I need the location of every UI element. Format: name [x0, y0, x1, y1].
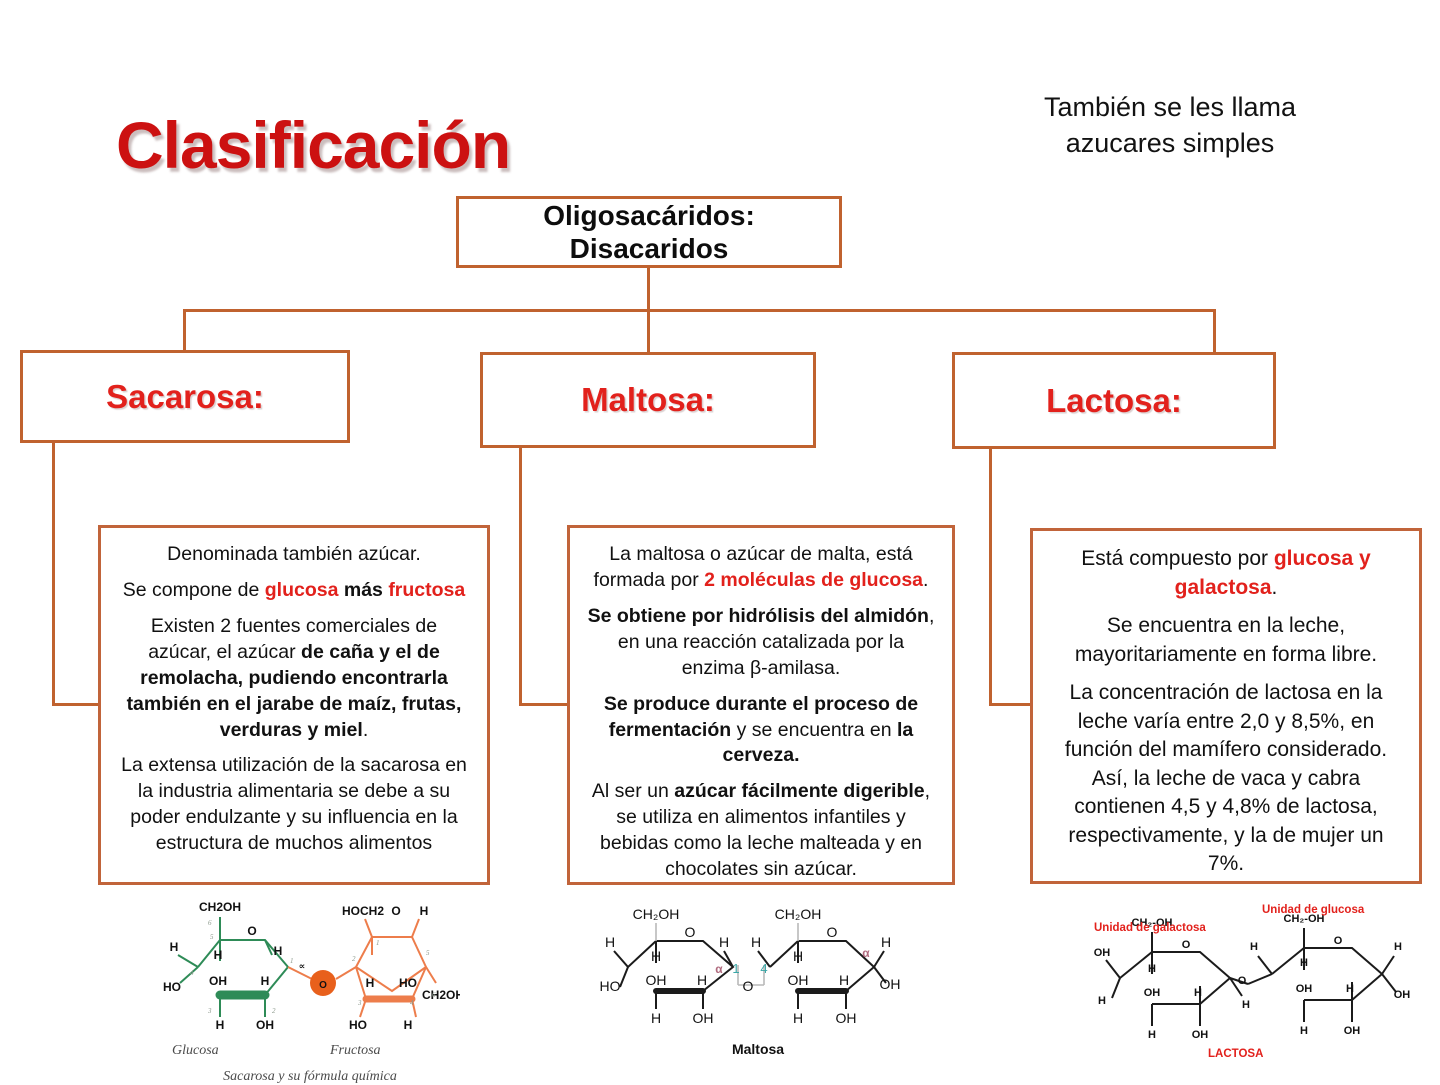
svg-text:H: H	[1194, 987, 1202, 999]
top-node-line2: Disacaridos	[543, 232, 755, 265]
svg-text:6: 6	[208, 919, 212, 927]
figure-sacarosa-right-label: Fructosa	[330, 1043, 381, 1059]
svg-text:O: O	[1238, 975, 1247, 987]
figure-maltosa-caption: Maltosa	[598, 1041, 918, 1057]
connector-lactosa-down	[989, 447, 992, 706]
svg-text:H: H	[1300, 1025, 1308, 1037]
figure-sacarosa-left-label: Glucosa	[172, 1043, 219, 1059]
svg-text:OH: OH	[1344, 1025, 1361, 1037]
svg-text:O: O	[827, 924, 838, 940]
paragraph: Se produce durante el proceso de ferment…	[586, 692, 936, 770]
svg-text:H: H	[366, 976, 375, 990]
subtitle-note: También se les llama azucares simples	[1000, 90, 1340, 161]
connector-to-maltosa	[647, 309, 650, 354]
svg-text:H: H	[651, 948, 661, 964]
svg-text:CH₂OH: CH₂OH	[633, 906, 680, 922]
svg-text:∝: ∝	[299, 961, 305, 971]
svg-text:H: H	[839, 972, 849, 988]
svg-text:H: H	[751, 934, 761, 950]
connector-to-sacarosa	[183, 309, 186, 352]
node-sacarosa[interactable]: Sacarosa:	[20, 350, 350, 443]
svg-text:H: H	[261, 974, 270, 988]
node-maltosa[interactable]: Maltosa:	[480, 352, 816, 448]
svg-text:H: H	[1098, 995, 1106, 1007]
node-lactosa-label: Lactosa:	[1046, 382, 1182, 420]
node-sacarosa-label: Sacarosa:	[106, 378, 264, 416]
svg-text:OH: OH	[209, 974, 227, 988]
paragraph: Al ser un azúcar fácilmente digerible, s…	[586, 779, 936, 883]
svg-text:H: H	[793, 948, 803, 964]
svg-text:6: 6	[432, 991, 436, 999]
svg-text:H: H	[420, 904, 429, 918]
svg-text:5: 5	[426, 949, 430, 957]
svg-text:3: 3	[357, 999, 362, 1007]
svg-text:4: 4	[190, 969, 194, 977]
svg-text:H: H	[719, 934, 729, 950]
svg-text:H: H	[651, 1010, 661, 1026]
svg-text:H: H	[1148, 963, 1156, 975]
svg-text:H: H	[697, 972, 707, 988]
figure-lactosa-right-label: Unidad de glucosa	[1262, 904, 1364, 916]
svg-text:α: α	[715, 962, 723, 976]
svg-text:OH: OH	[646, 972, 667, 988]
paragraph: Está compuesto por glucosa y galactosa.	[1049, 545, 1403, 602]
svg-text:H: H	[1394, 941, 1402, 953]
connector-sacarosa-in	[52, 703, 100, 706]
svg-text:OH: OH	[1296, 983, 1313, 995]
paragraph: La extensa utilización de la sacarosa en…	[117, 753, 471, 857]
svg-text:H: H	[1346, 983, 1354, 995]
paragraph: Se compone de glucosa más fructosa	[117, 578, 471, 604]
svg-text:OH: OH	[693, 1010, 714, 1026]
svg-text:O: O	[247, 924, 256, 938]
svg-text:CH₂OH: CH₂OH	[775, 906, 822, 922]
connector-sacarosa-down	[52, 441, 55, 705]
svg-text:OH: OH	[1394, 989, 1411, 1001]
svg-text:4: 4	[410, 999, 414, 1007]
svg-text:CH2OH: CH2OH	[422, 988, 460, 1002]
connector-root-down	[647, 268, 650, 312]
svg-text:O: O	[1334, 935, 1343, 947]
connector-bus	[183, 309, 1216, 312]
svg-text:H: H	[214, 948, 223, 962]
figure-lactosa-left-label: Unidad de galactosa	[1094, 922, 1206, 934]
svg-text:O: O	[743, 978, 754, 994]
svg-text:2: 2	[272, 1007, 276, 1015]
svg-text:OH: OH	[1094, 947, 1111, 959]
svg-text:5: 5	[210, 933, 214, 941]
svg-text:H: H	[881, 934, 891, 950]
svg-text:OH: OH	[836, 1010, 857, 1026]
svg-text:OH: OH	[256, 1018, 274, 1032]
panel-maltosa: La maltosa o azúcar de malta, está forma…	[567, 525, 955, 885]
svg-text:OH: OH	[880, 976, 901, 992]
figure-maltosa: CH₂OH O H H H OH H HO H OH O α 1 4 CH₂OH…	[598, 905, 918, 1075]
svg-text:H: H	[274, 944, 283, 958]
paragraph: Se obtiene por hidrólisis del almidón, e…	[586, 604, 936, 682]
svg-text:HO: HO	[163, 980, 181, 994]
svg-text:2: 2	[352, 955, 356, 963]
figure-lactosa-caption: LACTOSA	[1208, 1048, 1263, 1060]
connector-lactosa-in	[989, 703, 1032, 706]
panel-sacarosa: Denominada también azúcar.Se compone de …	[98, 525, 490, 885]
svg-text:1: 1	[376, 939, 380, 947]
svg-text:O: O	[685, 924, 696, 940]
paragraph: La concentración de lactosa en la leche …	[1049, 679, 1403, 879]
top-node-line1: Oligosacáridos:	[543, 199, 755, 232]
paragraph: Se encuentra en la leche, mayoritariamen…	[1049, 612, 1403, 669]
svg-text:H: H	[1242, 999, 1250, 1011]
figure-sacarosa: O CH2OH O H H H OH H HO H OH HOCH2 O H H…	[160, 895, 460, 1070]
connector-maltosa-in	[519, 703, 569, 706]
svg-text:HO: HO	[600, 978, 621, 994]
svg-text:HO: HO	[399, 976, 417, 990]
connector-maltosa-down	[519, 446, 522, 706]
svg-text:HO: HO	[349, 1018, 367, 1032]
svg-text:H: H	[605, 934, 615, 950]
paragraph: La maltosa o azúcar de malta, está forma…	[586, 542, 936, 594]
node-lactosa[interactable]: Lactosa:	[952, 352, 1276, 449]
svg-text:H: H	[216, 1018, 225, 1032]
svg-text:H: H	[1148, 1029, 1156, 1041]
node-maltosa-label: Maltosa:	[581, 381, 715, 419]
svg-text:OH: OH	[1192, 1029, 1209, 1041]
svg-text:H: H	[170, 940, 179, 954]
page-title: Clasificación	[116, 112, 636, 178]
svg-text:H: H	[1250, 941, 1258, 953]
svg-text:H: H	[793, 1010, 803, 1026]
svg-text:H: H	[1300, 957, 1308, 969]
panel-lactosa: Está compuesto por glucosa y galactosa.S…	[1030, 528, 1422, 884]
figure-sacarosa-caption: Sacarosa y su fórmula química	[160, 1069, 460, 1085]
paragraph: Denominada también azúcar.	[117, 542, 471, 568]
connector-to-lactosa	[1213, 309, 1216, 354]
svg-text:1: 1	[290, 957, 294, 965]
svg-text:α: α	[862, 946, 870, 960]
svg-text:OH: OH	[788, 972, 809, 988]
top-node-oligosacaridos[interactable]: Oligosacáridos: Disacaridos	[456, 196, 842, 268]
paragraph: Existen 2 fuentes comerciales de azúcar,…	[117, 614, 471, 744]
svg-text:3: 3	[207, 1007, 212, 1015]
svg-text:O: O	[1182, 939, 1191, 951]
svg-text:1: 1	[732, 961, 739, 976]
svg-text:H: H	[404, 1018, 413, 1032]
figure-lactosa: CH₂-OH O OH H OH H H H OH O H H CH₂-OH O…	[1090, 900, 1420, 1075]
svg-text:4: 4	[760, 961, 767, 976]
svg-text:CH2OH: CH2OH	[199, 900, 241, 914]
svg-text:O: O	[391, 904, 400, 918]
svg-text:O: O	[319, 980, 327, 991]
svg-text:OH: OH	[1144, 987, 1161, 999]
svg-text:HOCH2: HOCH2	[342, 904, 384, 918]
